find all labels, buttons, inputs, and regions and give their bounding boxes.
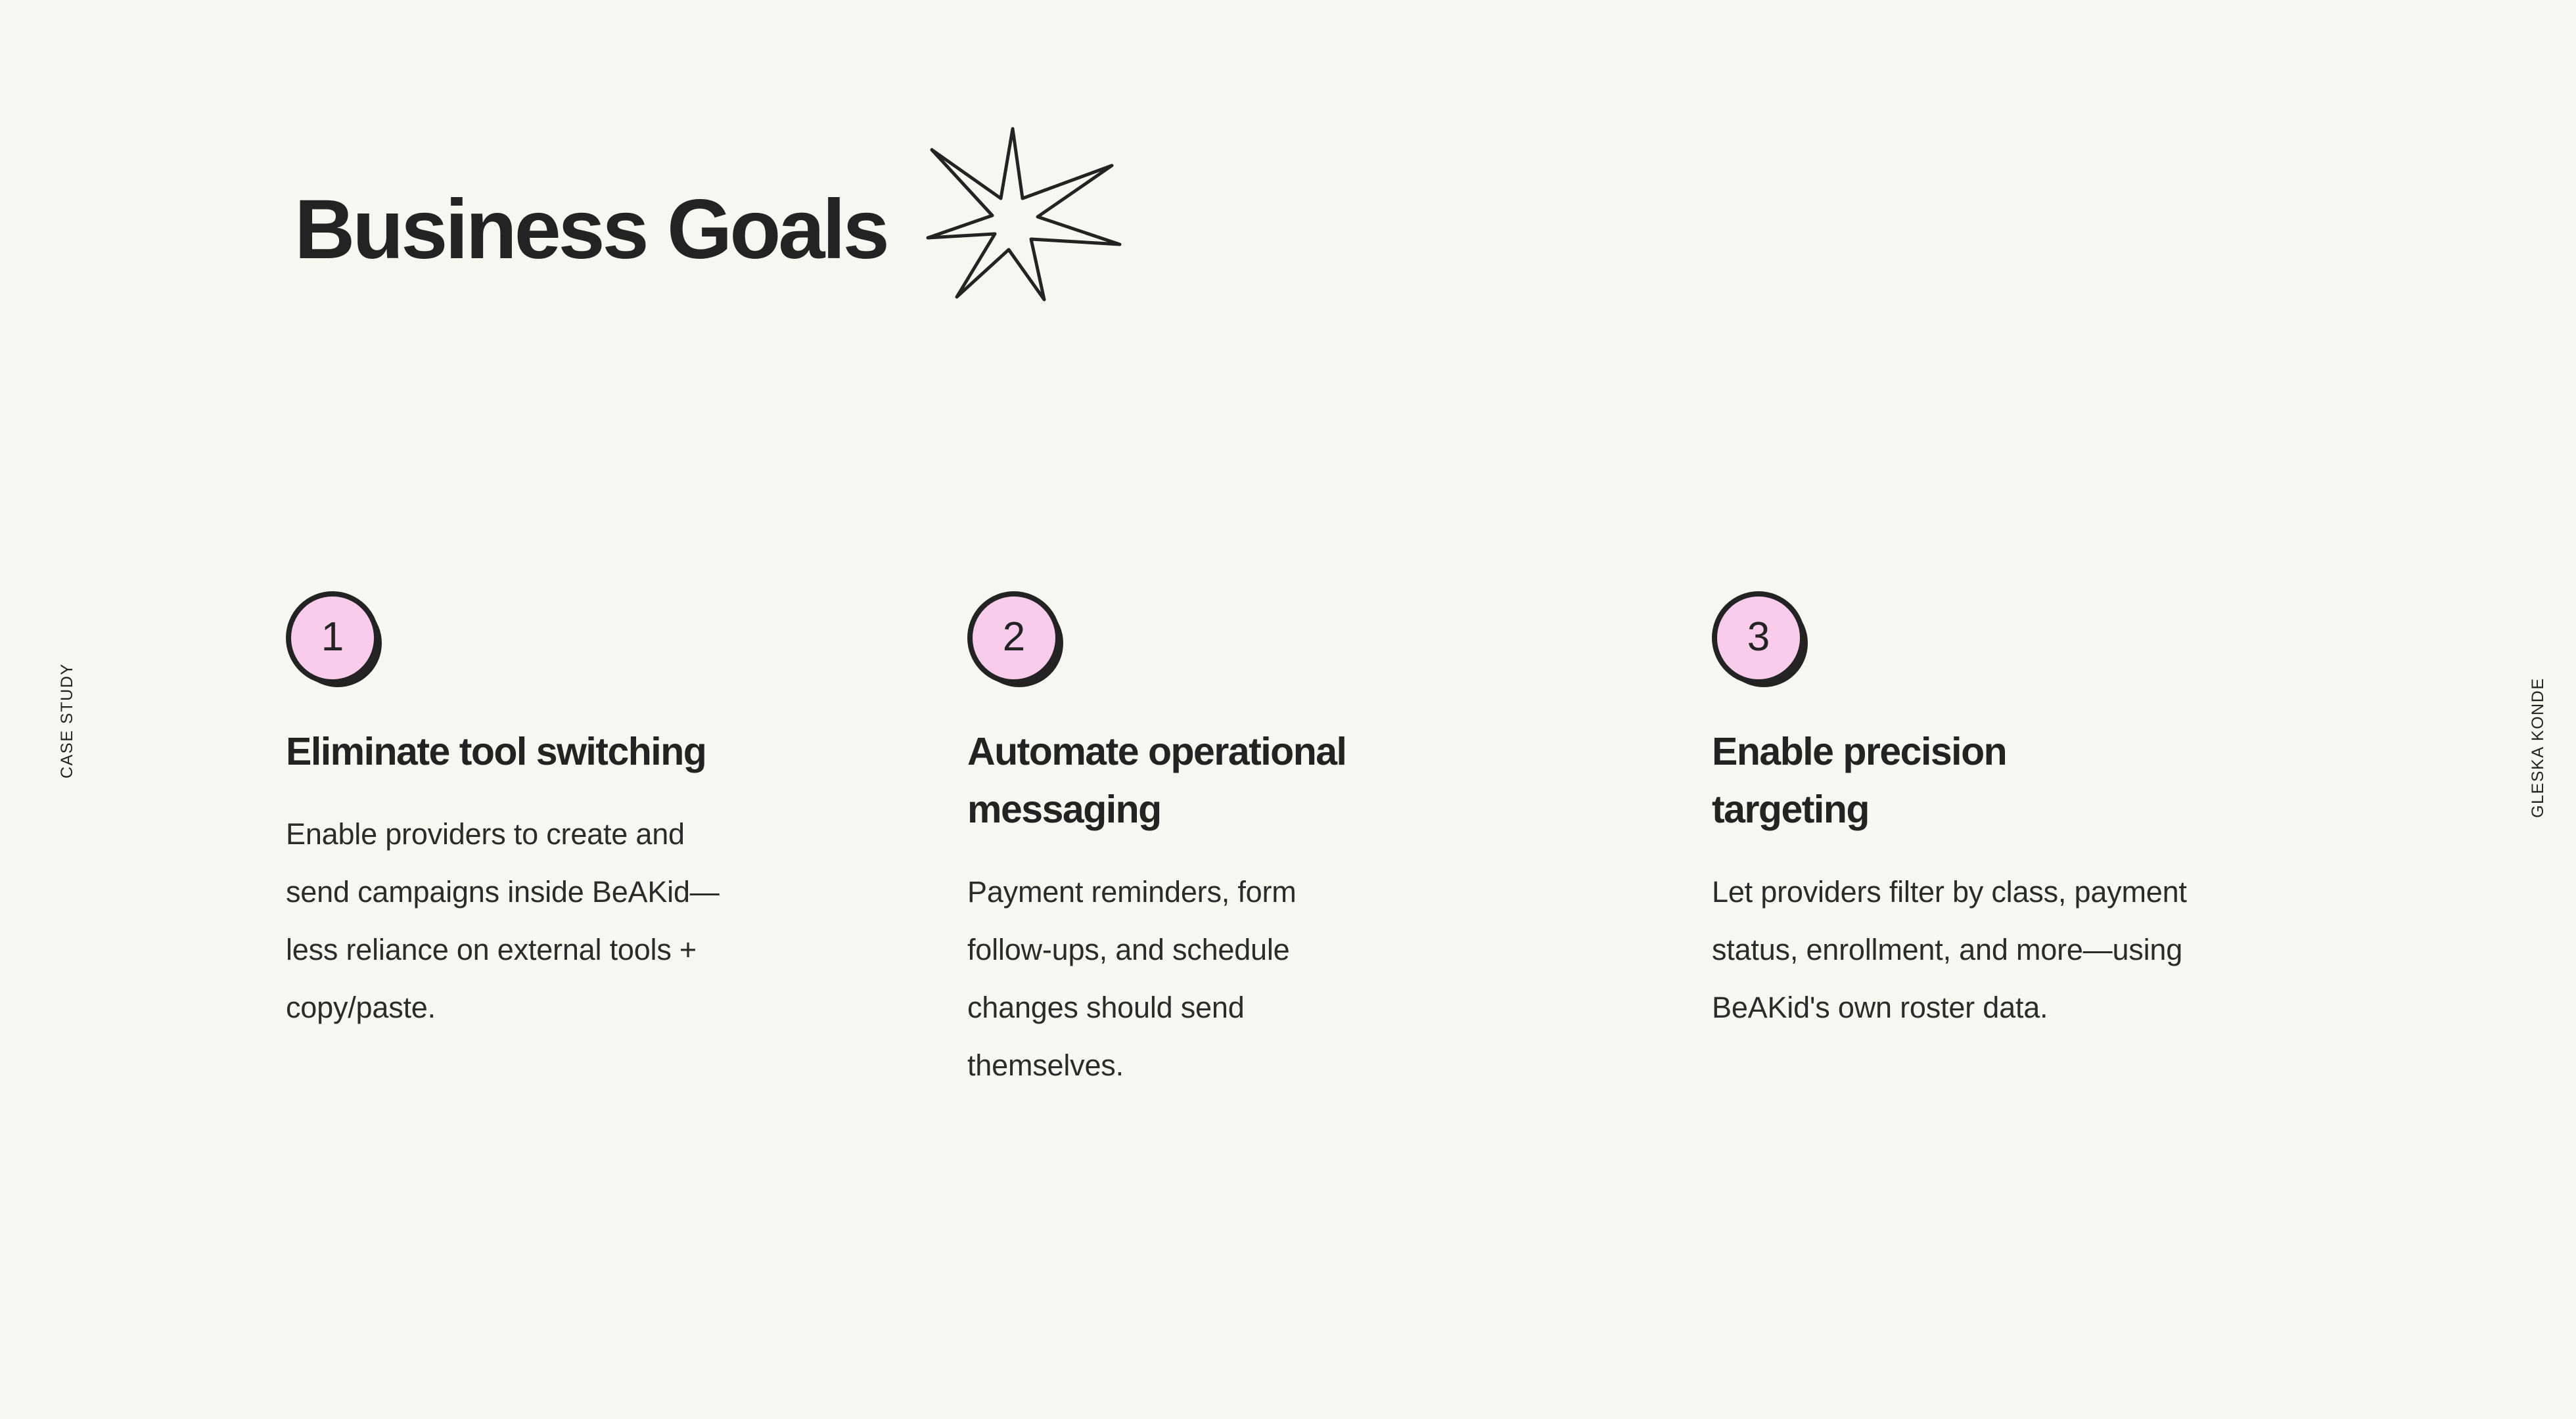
goal-number-badge: 2 bbox=[967, 591, 1063, 687]
case-study-label: CASE STUDY bbox=[58, 663, 77, 778]
badge-number: 3 bbox=[1747, 617, 1770, 658]
badge-number: 2 bbox=[1003, 617, 1025, 658]
page-title: Business Goals bbox=[294, 188, 887, 272]
badge-face: 3 bbox=[1712, 591, 1805, 685]
goal-heading: Eliminate tool switching bbox=[286, 723, 746, 780]
sparkle-icon bbox=[923, 121, 1120, 331]
goal-body: Payment reminders, form follow-ups, and … bbox=[967, 863, 1388, 1094]
slide-root: Business Goals CASE STUDY GLESKA KONDE 1… bbox=[0, 0, 2576, 1419]
goal-heading: Enable precision targeting bbox=[1712, 723, 2146, 838]
badge-face: 2 bbox=[967, 591, 1061, 685]
goal-body: Let providers filter by class, payment s… bbox=[1712, 863, 2211, 1037]
goal-card: 2 Automate operational messaging Payment… bbox=[967, 591, 1539, 1094]
title-row: Business Goals bbox=[294, 129, 1120, 331]
badge-number: 1 bbox=[321, 617, 344, 658]
goals-columns: 1 Eliminate tool switching Enable provid… bbox=[286, 591, 2277, 1094]
goal-heading: Automate operational messaging bbox=[967, 723, 1532, 838]
goal-number-badge: 1 bbox=[286, 591, 382, 687]
badge-face: 1 bbox=[286, 591, 379, 685]
goal-body: Enable providers to create and send camp… bbox=[286, 805, 746, 1037]
goal-card: 3 Enable precision targeting Let provide… bbox=[1712, 591, 2284, 1094]
brand-label: GLESKA KONDE bbox=[2529, 677, 2548, 818]
goal-card: 1 Eliminate tool switching Enable provid… bbox=[286, 591, 858, 1094]
goal-number-badge: 3 bbox=[1712, 591, 1808, 687]
